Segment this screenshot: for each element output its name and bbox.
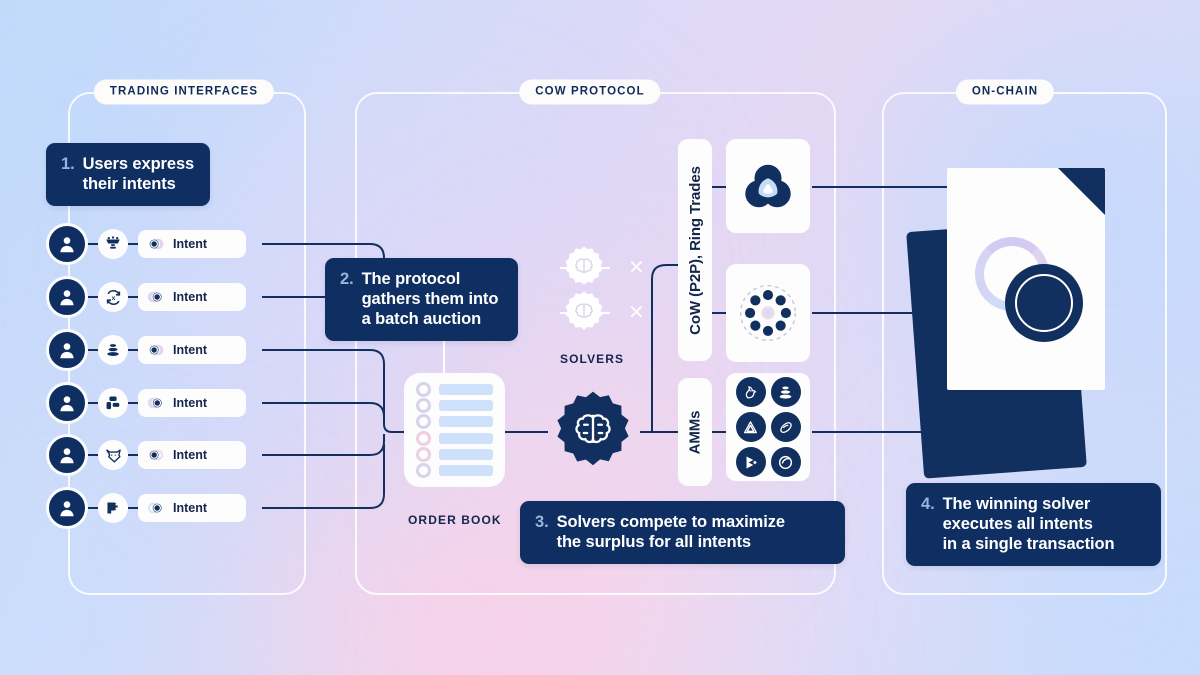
order-book-row [416, 398, 493, 413]
connector-dash [128, 402, 138, 404]
winning-solver [547, 387, 639, 484]
callout-step-4: 4. The winning solver executes all inten… [906, 483, 1161, 566]
diagram-canvas: TRADING INTERFACES COW PROTOCOL ON-CHAIN [0, 0, 1200, 675]
connector-dash [88, 243, 98, 245]
intent-ripple-icon [146, 340, 166, 360]
seal-inner-ring [1015, 274, 1073, 332]
intent-chip-4[interactable]: Intent [138, 389, 246, 417]
intent-label: Intent [173, 501, 207, 515]
intent-label: Intent [173, 237, 207, 251]
order-bar [439, 384, 493, 395]
order-dot-icon [416, 431, 431, 446]
intent-chip-3[interactable]: Intent [138, 336, 246, 364]
venue-label-text: AMMs [687, 410, 704, 454]
order-dot-icon [416, 447, 431, 462]
step-1-number: 1. [61, 154, 75, 174]
connector-dash [88, 402, 98, 404]
intent-ripple-icon [146, 287, 166, 307]
solver-gear-brain-icon [547, 387, 639, 479]
x-mark-icon-1: ✕ [628, 258, 645, 278]
user-row-5[interactable]: Intent [46, 434, 246, 476]
panel-label-on-chain: ON-CHAIN [956, 80, 1054, 105]
step-4-number: 4. [921, 494, 935, 514]
intent-label: Intent [173, 290, 207, 304]
connector-dash [128, 349, 138, 351]
intent-chip-6[interactable]: Intent [138, 494, 246, 522]
user-avatar-icon [46, 276, 88, 318]
order-book-row [416, 382, 493, 397]
amms-card [726, 373, 810, 481]
intent-ripple-icon [146, 393, 166, 413]
solvers-caption: SOLVERS [560, 352, 624, 366]
order-bar [439, 416, 493, 427]
callout-step-3: 3. Solvers compete to maximize the surpl… [520, 501, 845, 564]
intent-label: Intent [173, 448, 207, 462]
connector-dash [88, 507, 98, 509]
curve-triangle-icon [736, 412, 766, 442]
ring-trades-card [726, 264, 810, 362]
tally-icon [98, 493, 128, 523]
document-fold-corner-icon [1058, 168, 1105, 215]
step-2-number: 2. [340, 269, 354, 289]
step-4-text: The winning solver executes all intents … [943, 494, 1115, 554]
safe-icon [98, 388, 128, 418]
order-book-caption: ORDER BOOK [408, 513, 502, 527]
svg-text:x: x [111, 295, 115, 302]
user-row-2[interactable]: x Intent [46, 276, 246, 318]
connector-dash [88, 454, 98, 456]
sushiswap-icon [771, 412, 801, 442]
x-mark-icon-2: ✕ [628, 303, 645, 323]
order-bar [439, 465, 493, 476]
venn-three-circles-icon [739, 157, 797, 215]
user-row-3[interactable]: Intent [46, 329, 246, 371]
intent-ripple-icon [146, 498, 166, 518]
intent-chip-1[interactable]: Intent [138, 230, 246, 258]
order-book-card [404, 373, 505, 487]
intent-label: Intent [173, 396, 207, 410]
venue-label-text: CoW (P2P), Ring Trades [687, 166, 704, 335]
panel-label-trading-interfaces: TRADING INTERFACES [94, 80, 274, 105]
connector-dash [88, 296, 98, 298]
connector-dash [128, 296, 138, 298]
step-1-text: Users express their intents [83, 154, 195, 194]
connector-dash [88, 349, 98, 351]
user-avatar-icon [46, 223, 88, 265]
cow-p2p-card [726, 139, 810, 233]
order-bar [439, 400, 493, 411]
bancor-icon [771, 447, 801, 477]
step-2-text: The protocol gathers them into a batch a… [362, 269, 499, 329]
cow-swap-icon [98, 229, 128, 259]
callout-step-1: 1. Users express their intents [46, 143, 210, 206]
solver-gear-brain-icon [560, 244, 608, 292]
balancer-icon [98, 335, 128, 365]
step-3-text: Solvers compete to maximize the surplus … [557, 512, 785, 552]
user-avatar-icon [46, 382, 88, 424]
metamask-icon [98, 440, 128, 470]
intent-chip-5[interactable]: Intent [138, 441, 246, 469]
intent-ripple-icon [146, 445, 166, 465]
order-book-row [416, 431, 493, 446]
user-avatar-icon [46, 434, 88, 476]
uniswap-unicorn-icon [736, 377, 766, 407]
callout-step-2: 2. The protocol gathers them into a batc… [325, 258, 518, 341]
user-avatar-icon [46, 487, 88, 529]
connector-dash [128, 507, 138, 509]
order-book-row [416, 447, 493, 462]
kyber-icon [736, 447, 766, 477]
order-bar [439, 433, 493, 444]
order-book-row [416, 414, 493, 429]
user-avatar-icon [46, 329, 88, 371]
solver-gear-brain-icon [560, 289, 608, 337]
order-dot-icon [416, 382, 431, 397]
user-row-6[interactable]: Intent [46, 487, 246, 529]
intent-chip-2[interactable]: Intent [138, 283, 246, 311]
intent-ripple-icon [146, 234, 166, 254]
amm-logo-grid [736, 377, 801, 477]
panel-label-cow-protocol: COW PROTOCOL [519, 80, 660, 105]
settlement-document-front [947, 168, 1105, 390]
order-dot-icon [416, 398, 431, 413]
connector-dash [128, 243, 138, 245]
venue-label-amms: AMMs [678, 378, 712, 486]
losing-solver-2 [560, 289, 608, 342]
intent-label: Intent [173, 343, 207, 357]
order-book-row [416, 463, 493, 478]
connector-dash [128, 454, 138, 456]
user-row-4[interactable]: Intent [46, 382, 246, 424]
safe-swap-icon: x [98, 282, 128, 312]
balancer-icon [771, 377, 801, 407]
order-dot-icon [416, 463, 431, 478]
order-dot-icon [416, 414, 431, 429]
cow-protocol-seal-icon [1005, 264, 1083, 342]
ring-of-dots-icon [735, 280, 801, 346]
venue-label-cow-ring: CoW (P2P), Ring Trades [678, 139, 712, 361]
user-row-1[interactable]: Intent [46, 223, 246, 265]
step-3-number: 3. [535, 512, 549, 532]
order-bar [439, 449, 493, 460]
